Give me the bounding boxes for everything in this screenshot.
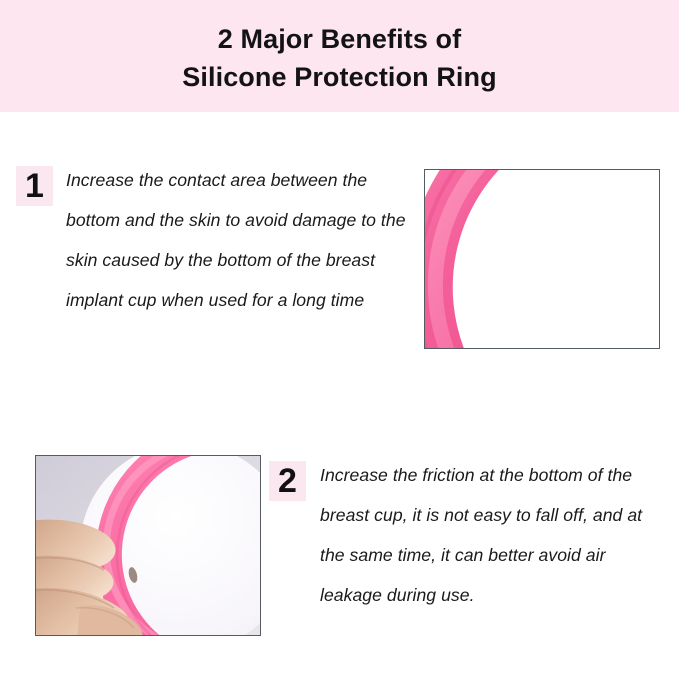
benefit-number-badge-1: 1 — [16, 166, 53, 206]
benefit-description-1: Increase the contact area between the bo… — [66, 160, 411, 320]
page-title-line-1: 2 Major Benefits of — [218, 20, 461, 58]
page-header: 2 Major Benefits of Silicone Protection … — [0, 0, 679, 112]
benefit-number-badge-2: 2 — [269, 461, 306, 501]
hand-holding-ring-photo — [35, 455, 261, 636]
silicone-ring-closeup-photo — [424, 169, 660, 349]
product-infographic-page: 2 Major Benefits of Silicone Protection … — [0, 0, 679, 679]
page-title-line-2: Silicone Protection Ring — [182, 58, 496, 96]
benefit-description-2: Increase the friction at the bottom of t… — [320, 455, 668, 615]
ring-closeup-illustration — [425, 170, 659, 348]
hand-ring-illustration — [36, 456, 260, 635]
